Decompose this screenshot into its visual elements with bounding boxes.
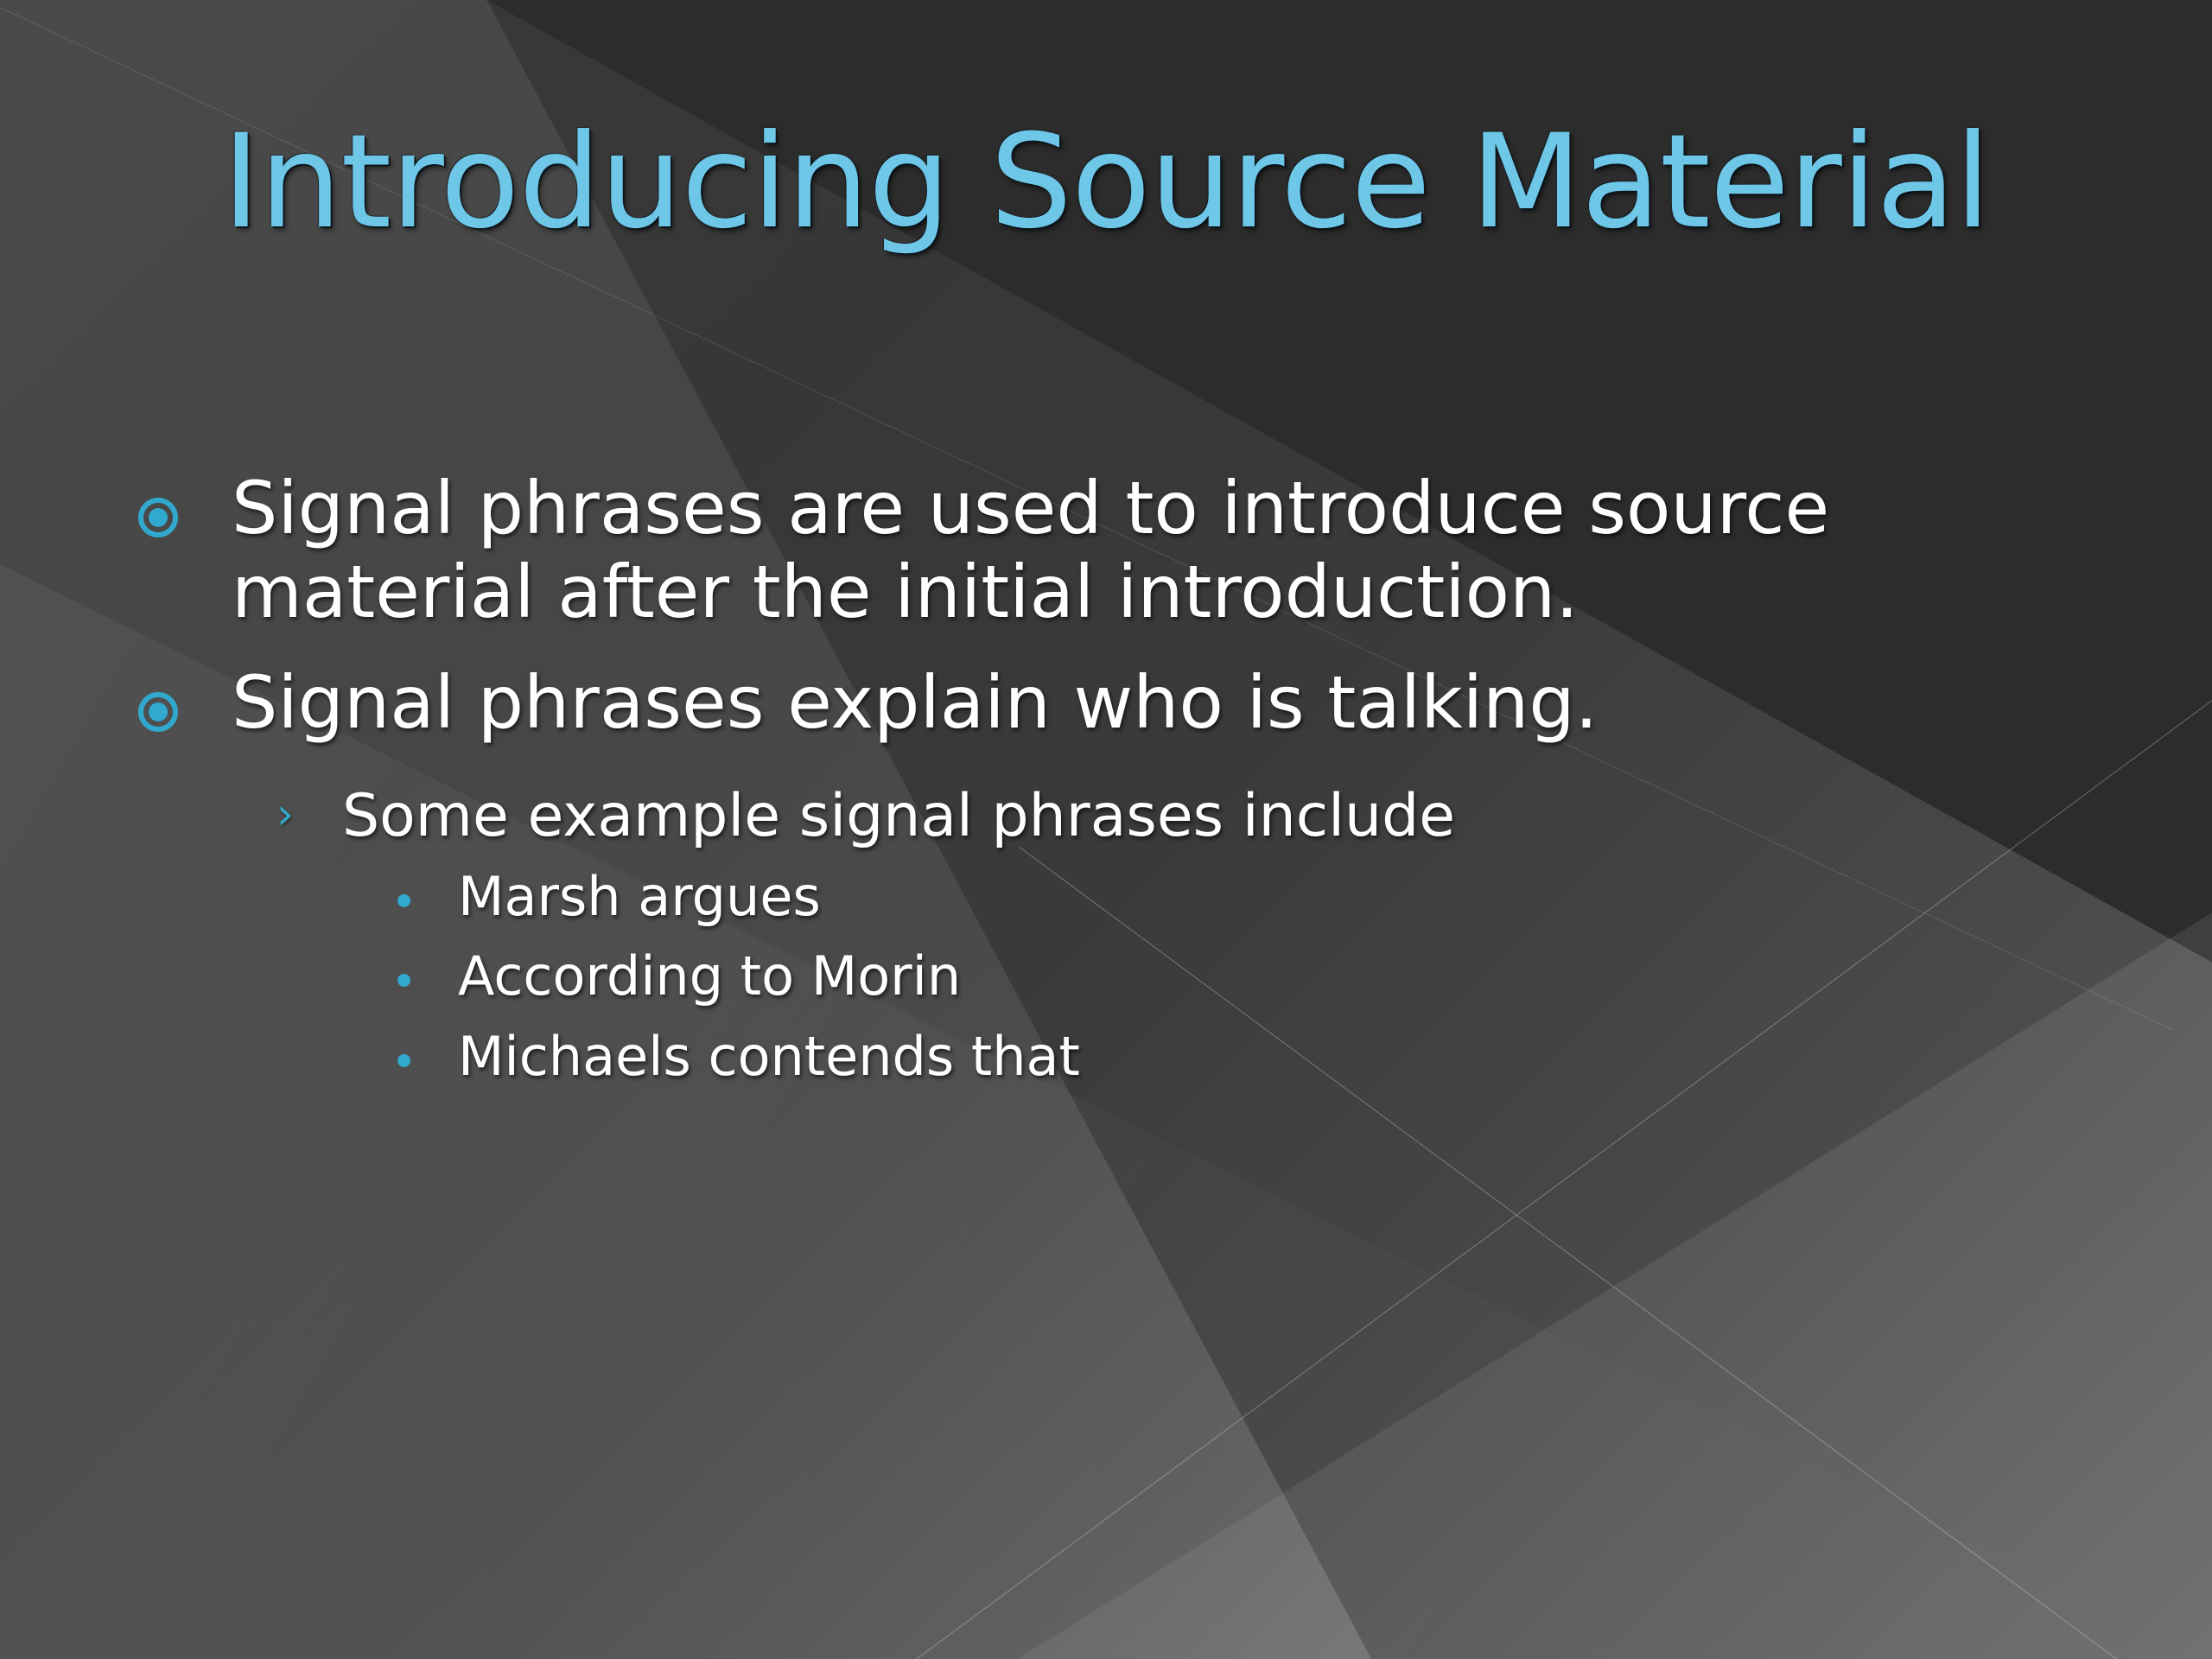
bullet-text: Marsh argues — [458, 865, 821, 929]
chevron-right-icon: › — [276, 782, 342, 847]
bullet-level3: Marsh argues — [397, 865, 2126, 929]
fisheye-bullet-icon — [138, 467, 232, 562]
small-dot-icon — [397, 1025, 458, 1084]
bullet-text: Signal phrases explain who is talking. — [232, 661, 1942, 745]
fisheye-bullet-icon — [138, 661, 232, 756]
small-dot-icon — [397, 944, 458, 1004]
bullet-text: Some example signal phrases include — [342, 782, 1455, 851]
bullet-level2: › Some example signal phrases include — [276, 782, 2126, 851]
bullet-level3: Michaels contends that — [397, 1025, 2126, 1089]
bullet-level1: Signal phrases are used to introduce sou… — [138, 467, 2126, 635]
bullet-text: Signal phrases are used to introduce sou… — [232, 467, 1942, 635]
bullet-text: According to Morin — [458, 944, 961, 1008]
slide-title: Introducing Source Material — [0, 114, 2212, 251]
bullet-level3: According to Morin — [397, 944, 2126, 1008]
bullet-text: Michaels contends that — [458, 1025, 1080, 1089]
small-dot-icon — [397, 865, 458, 925]
presentation-slide: Introducing Source Material Signal phras… — [0, 0, 2212, 1659]
bullet-level1: Signal phrases explain who is talking. — [138, 661, 2126, 756]
slide-body-content: Signal phrases are used to introduce sou… — [138, 467, 2126, 1104]
